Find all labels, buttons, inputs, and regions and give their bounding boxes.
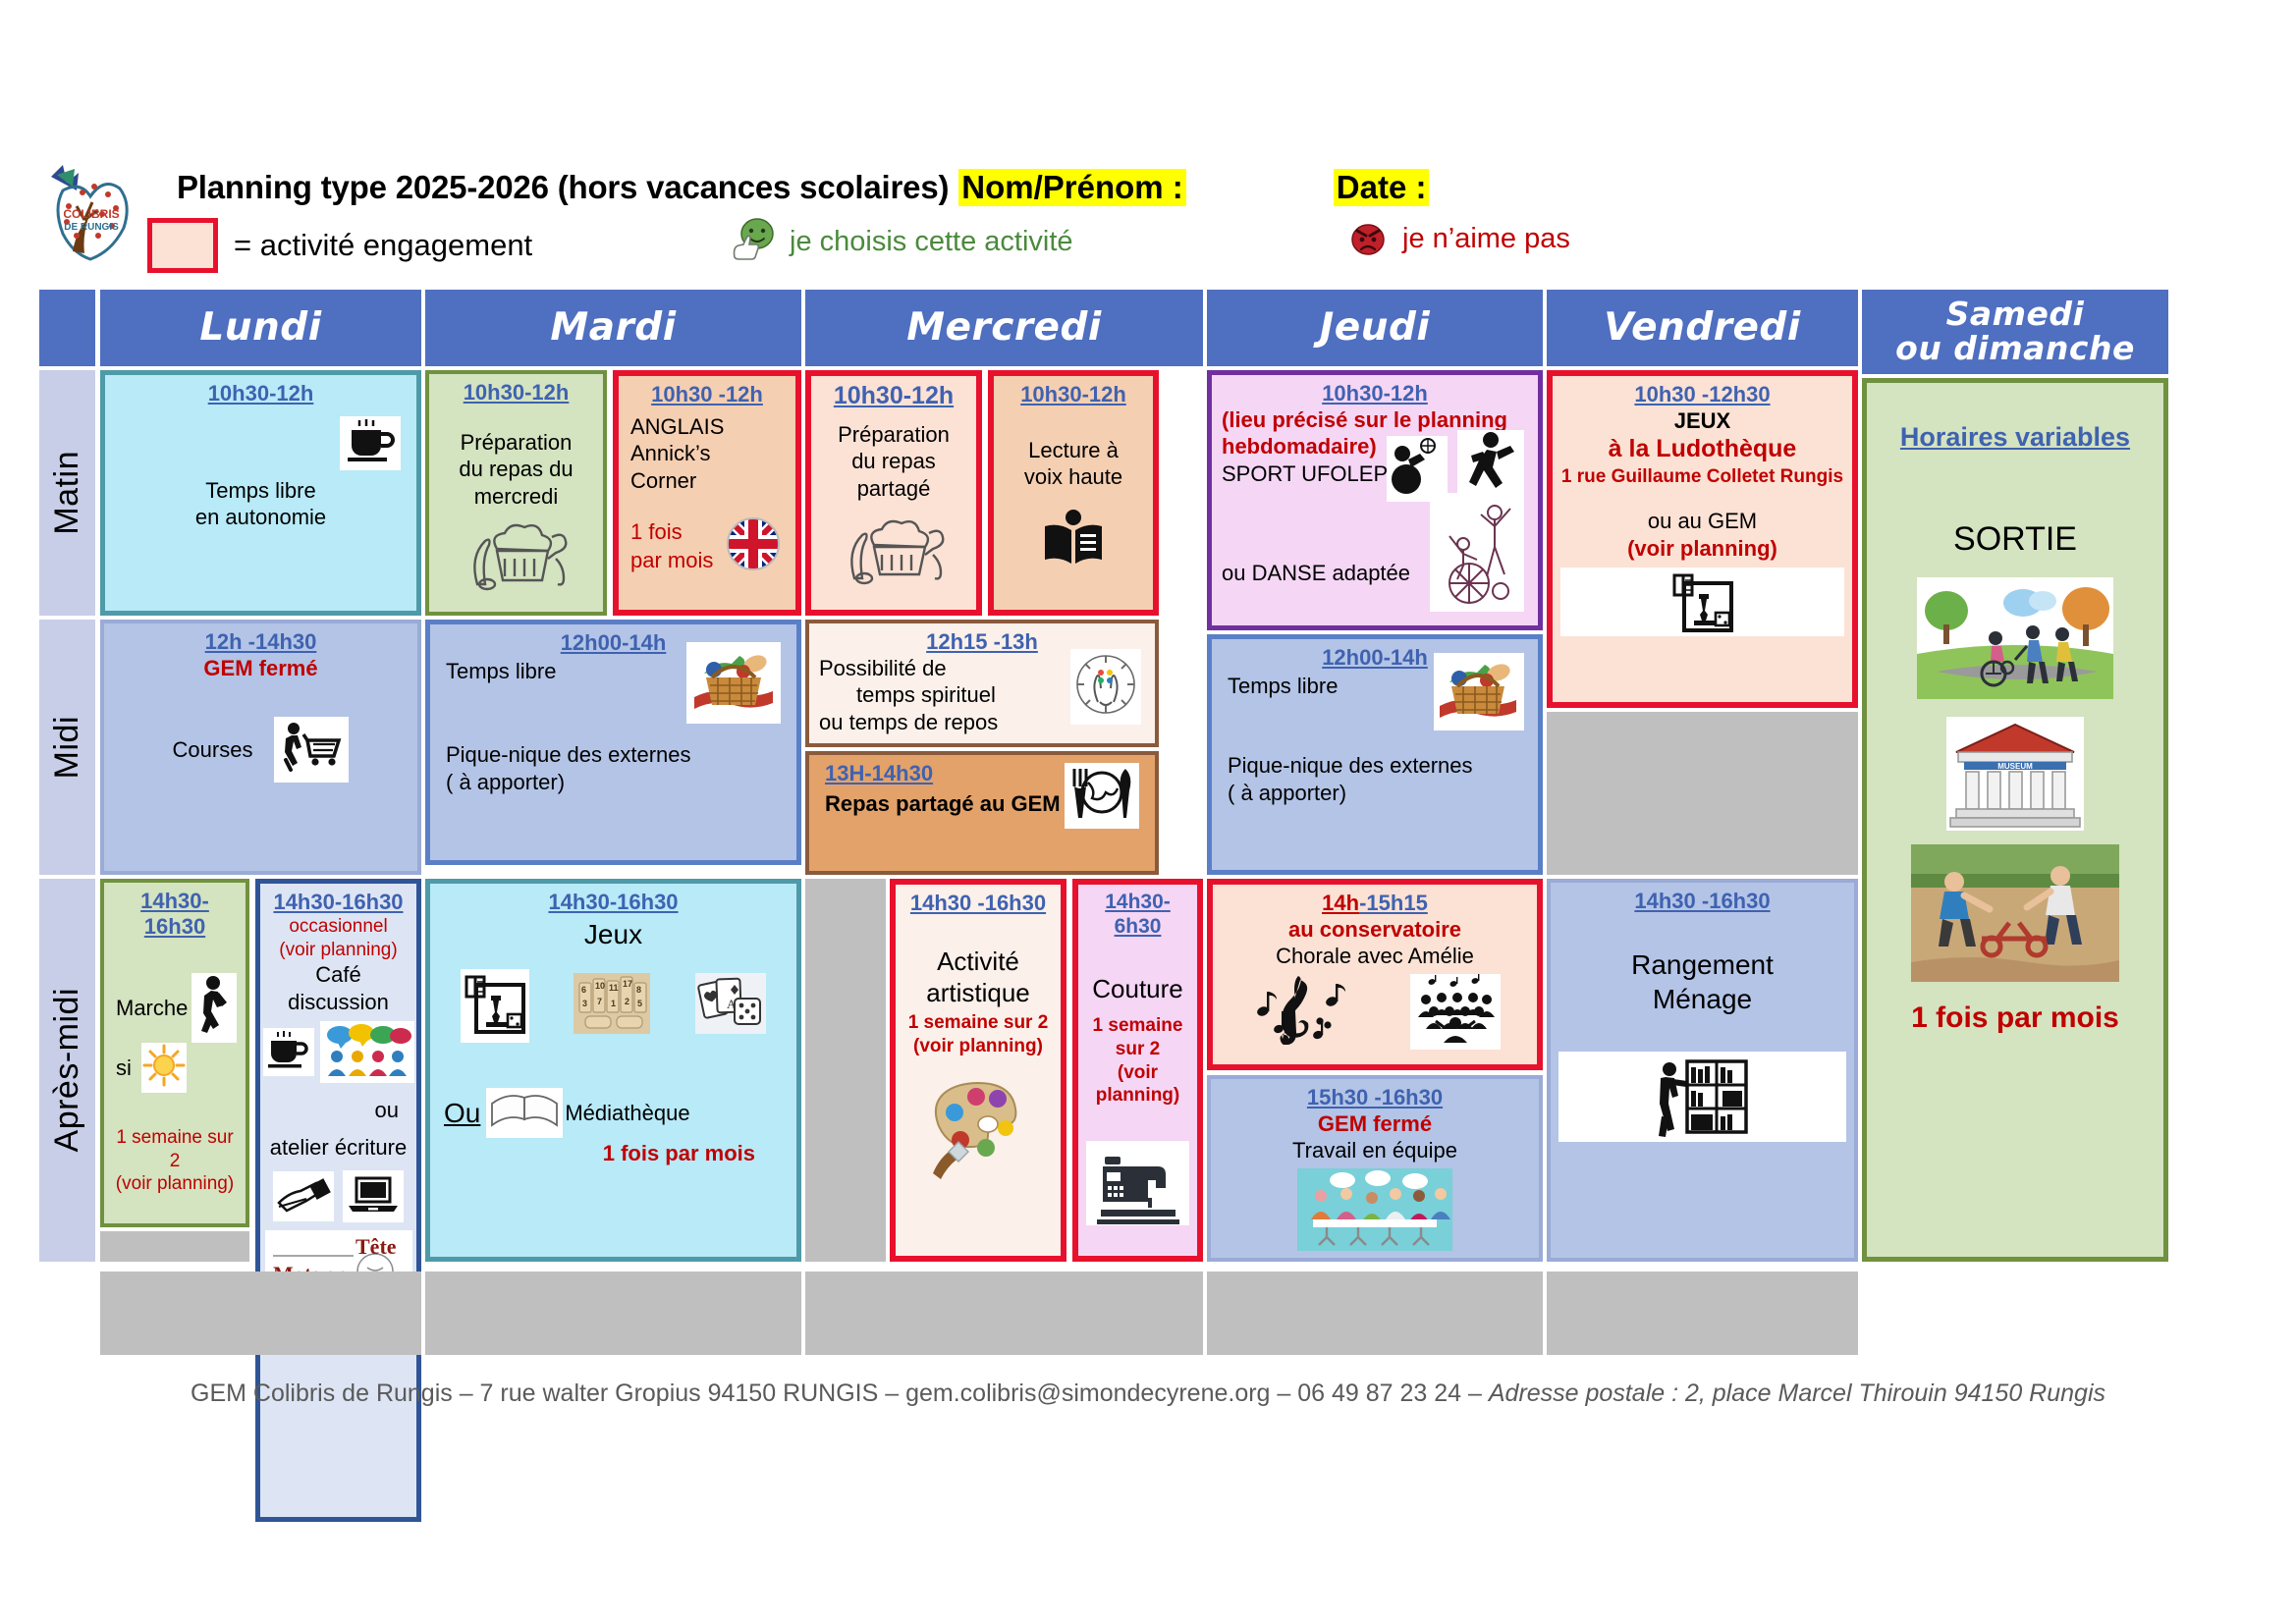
cell-note-1: 1 semaine sur 2 xyxy=(1086,1014,1189,1061)
cell-line-1: Médiathèque xyxy=(565,1100,689,1127)
engagement-color-swatch xyxy=(147,218,218,273)
day-label: Lundi xyxy=(199,308,321,349)
cell-time: 10h30-12h xyxy=(437,380,595,406)
cell-time: 10h30-12h xyxy=(113,381,409,406)
cell-lundi-matin[interactable]: 10h30-12h Temps libre en autonomie xyxy=(100,370,421,616)
title-row: Planning type 2025-2026 (hors vacances s… xyxy=(177,169,1429,206)
svg-text:7: 7 xyxy=(597,997,602,1006)
cell-mercredi-matin-preparation[interactable]: 10h30-12h Préparation du repas partagé xyxy=(805,370,982,616)
running-person-ball-icon xyxy=(1457,430,1524,496)
cell-note-2: (voir planning) xyxy=(903,1035,1053,1058)
day-header-samedi-dimanche: Samedi ou dimanche xyxy=(1862,290,2168,374)
cell-line-1: Préparation xyxy=(437,429,595,457)
cell-time: 14h30-16h30 xyxy=(438,890,789,915)
cell-time: 14h30 -16h30 xyxy=(1558,889,1846,914)
cell-note-1: 1 semaine sur 2 xyxy=(112,1126,238,1173)
cell-note-1: au conservatoire xyxy=(1221,916,1529,944)
grey-filler xyxy=(1547,712,1858,875)
colibris-logo: COLIBRIS DE RUNGIS xyxy=(33,157,149,265)
cell-mardi-midi[interactable]: 12h00-14h Temps libre Pique-nique des xyxy=(425,620,801,865)
grid-corner xyxy=(39,290,95,366)
cell-line-1: Temps libre xyxy=(113,477,409,505)
cell-line-2: si xyxy=(116,1055,132,1082)
cell-jeudi-apres-midi-chorale[interactable]: 14h-15h15 au conservatoire Chorale avec … xyxy=(1207,879,1543,1070)
thumbs-up-smiley-icon xyxy=(727,214,778,270)
row-label-text: Midi xyxy=(48,716,86,779)
cooking-utensils-icon xyxy=(437,515,595,594)
cell-line-1: Travail en équipe xyxy=(1219,1137,1531,1164)
day-header-jeudi: Jeudi xyxy=(1207,290,1543,366)
grey-filler xyxy=(805,1271,1203,1355)
cell-time: 10h30 -12h30 xyxy=(1560,382,1844,407)
cell-line-1: Chorale avec Amélie xyxy=(1221,943,1529,970)
picnic-basket-icon xyxy=(686,642,781,724)
footer-text-contact: GEM Colibris de Rungis – 7 rue walter Gr… xyxy=(191,1380,1489,1407)
cell-title: SORTIE xyxy=(1875,518,2156,561)
cell-time: 12h -14h30 xyxy=(112,629,410,655)
cell-note-1: occasionnel xyxy=(268,915,409,939)
day-label-line1: Samedi xyxy=(1946,298,2085,332)
walking-person-icon xyxy=(191,973,237,1043)
laptop-icon xyxy=(343,1170,404,1222)
cell-line-2: du repas xyxy=(819,448,968,475)
cooking-utensils-icon xyxy=(819,512,968,586)
cell-line-1: Lecture à xyxy=(1002,437,1145,464)
music-notes-clef-icon xyxy=(1249,974,1353,1050)
svg-text:8: 8 xyxy=(636,985,641,995)
cell-mercredi-apres-midi-artistique[interactable]: 14h30 -16h30 Activité artistique 1 semai… xyxy=(890,879,1066,1262)
day-label-line2: ou dimanche xyxy=(1895,332,2135,366)
cell-note-1: (voir planning) xyxy=(1560,535,1844,563)
cell-mardi-apres-midi-jeux[interactable]: 14h30-16h30 Jeux xyxy=(425,879,801,1262)
cell-time: 15h30 -16h30 xyxy=(1219,1085,1531,1110)
cell-line-3: Corner xyxy=(630,467,788,495)
adapted-sport-outdoor-photo xyxy=(1875,844,2156,982)
legend-like: je choisis cette activité xyxy=(727,214,1073,270)
cell-time: 10h30-12h xyxy=(1220,381,1530,406)
cell-line-1: Courses xyxy=(173,736,253,764)
cell-title: Jeux xyxy=(438,917,789,951)
grey-filler xyxy=(100,1231,249,1262)
tidying-shelves-person-icon xyxy=(1558,1052,1846,1142)
cell-line-3: partagé xyxy=(819,475,968,503)
cell-note-1: 1 semaine sur 2 xyxy=(903,1011,1053,1035)
page-title: Planning type 2025-2026 (hors vacances s… xyxy=(177,169,949,206)
cell-jeudi-matin-sport[interactable]: 10h30-12h (lieu précisé sur le planning … xyxy=(1207,370,1543,630)
cell-mercredi-apres-midi-couture[interactable]: 14h30-6h30 Couture 1 semaine sur 2 (voir… xyxy=(1072,879,1203,1262)
legend-like-label: je choisis cette activité xyxy=(790,226,1073,258)
day-header-vendredi: Vendredi xyxy=(1547,290,1858,366)
speech-bubbles-people-icon xyxy=(320,1021,414,1083)
cell-vendredi-matin-jeux[interactable]: 10h30 -12h30 JEUX à la Ludothèque 1 rue … xyxy=(1547,370,1858,708)
board-game-icon xyxy=(461,969,529,1043)
svg-text:Tête: Tête xyxy=(355,1234,397,1259)
open-book-icon xyxy=(486,1088,563,1138)
cell-line-2: voix haute xyxy=(1002,463,1145,491)
cell-note-1: 1 fois xyxy=(630,518,713,547)
day-header-mercredi: Mercredi xyxy=(805,290,1203,366)
cell-line-4: ou au GEM xyxy=(1560,508,1844,535)
grey-filler xyxy=(1207,1271,1543,1355)
cell-line-2: ou xyxy=(268,1097,409,1124)
row-label-matin: Matin xyxy=(39,370,95,616)
cell-line-2: à la Ludothèque xyxy=(1560,434,1844,464)
cell-line-1: Préparation xyxy=(819,421,968,449)
cell-time: 14h30-16h30 xyxy=(268,890,409,915)
cell-mercredi-matin-lecture[interactable]: 10h30-12h Lecture à voix haute xyxy=(988,370,1159,616)
outdoor-walk-scene-icon xyxy=(1875,577,2156,699)
page-footer: GEM Colibris de Rungis – 7 rue walter Gr… xyxy=(0,1380,2296,1408)
cell-time: 14h30-6h30 xyxy=(1086,891,1189,940)
cell-line-2: Pique-nique des externes xyxy=(446,741,789,769)
day-label: Vendredi xyxy=(1604,308,1800,349)
legend-engagement-label: = activité engagement xyxy=(234,228,532,263)
svg-text:MUSEUM: MUSEUM xyxy=(1997,762,2033,771)
day-label: Mercredi xyxy=(906,308,1102,349)
cell-jeudi-midi[interactable]: 12h00-14h Temps libre Pique-nique des ex… xyxy=(1207,634,1543,875)
sun-icon xyxy=(141,1043,187,1093)
cell-mercredi-midi-spirituel[interactable]: 12h15 -13h Possibilité de temps spirit xyxy=(805,620,1159,747)
board-game-icon xyxy=(1560,568,1844,636)
cell-line-2: Annick’s xyxy=(630,440,788,467)
cell-line-3: ( à apporter) xyxy=(1228,780,1530,807)
cell-line-1: JEUX xyxy=(1560,407,1844,435)
cell-note-2: par mois xyxy=(630,547,713,575)
coffee-cup-icon xyxy=(340,416,401,470)
writing-hand-icon xyxy=(273,1171,334,1221)
cell-time: 10h30 -12h xyxy=(627,382,788,407)
cell-note-2: (voir planning) xyxy=(1086,1061,1189,1109)
cell-mardi-matin-preparation[interactable]: 10h30-12h Préparation du repas du mercre… xyxy=(425,370,607,616)
cell-line-3: atelier écriture xyxy=(268,1134,409,1162)
grey-filler xyxy=(805,879,886,1262)
cell-note-1: 1 fois par mois xyxy=(1875,1000,2156,1037)
legend-engagement: = activité engagement xyxy=(147,218,532,273)
planning-grid: Lundi Mardi Mercredi Jeudi Vendredi Same… xyxy=(39,290,2231,1355)
cell-time-part-a: 14h xyxy=(1322,891,1359,915)
cell-mercredi-midi-repas[interactable]: 13H-14h30 Repas partagé au GEM xyxy=(805,751,1159,875)
cell-line-2: artistique xyxy=(903,977,1053,1009)
cell-lundi-apres-midi-cafe[interactable]: 14h30-16h30 occasionnel (voir planning) … xyxy=(255,879,421,1522)
cell-time: 10h30-12h xyxy=(819,382,968,411)
adapted-dance-icon xyxy=(1430,493,1524,612)
cell-line-1: Couture xyxy=(1086,973,1189,1005)
row-label-midi: Midi xyxy=(39,620,95,875)
cell-line-1: Marche xyxy=(116,995,188,1022)
cell-line-3: ( à apporter) xyxy=(446,769,789,796)
uk-flag-icon xyxy=(727,517,780,575)
cell-lundi-apres-midi-marche[interactable]: 14h30- 16h30 Marche si xyxy=(100,879,249,1227)
day-header-lundi: Lundi xyxy=(100,290,421,366)
cell-line-1: Café discussion xyxy=(268,961,409,1015)
svg-text:2: 2 xyxy=(625,997,629,1006)
shopping-cart-person-icon xyxy=(274,717,349,783)
day-label: Mardi xyxy=(550,308,676,349)
angry-face-icon xyxy=(1345,214,1391,264)
cell-line-2: Ménage xyxy=(1558,982,1846,1016)
cell-lundi-midi[interactable]: 12h -14h30 GEM fermé Courses xyxy=(100,620,421,875)
paint-palette-icon xyxy=(903,1067,1053,1181)
cell-jeudi-apres-midi-travail[interactable]: 15h30 -16h30 GEM fermé Travail en équipe xyxy=(1207,1075,1543,1262)
svg-text:17: 17 xyxy=(623,979,632,989)
logo-text-de-rungis: DE RUNGIS xyxy=(64,222,119,233)
svg-text:11: 11 xyxy=(609,983,619,993)
cell-time-2: 16h30 xyxy=(112,914,238,940)
day-label: Jeudi xyxy=(1320,308,1431,349)
cell-note-2: (voir planning) xyxy=(268,939,409,962)
team-meeting-icon xyxy=(1219,1168,1531,1251)
cell-time: 14h30 -16h30 xyxy=(903,891,1053,916)
choir-group-icon xyxy=(1410,974,1501,1050)
cell-time: Horaires variables xyxy=(1875,422,2156,454)
coffee-cup-icon xyxy=(263,1028,314,1076)
cell-line-2: du repas du xyxy=(437,456,595,483)
cell-line-2: en autonomie xyxy=(113,504,409,531)
row-label-text: Après-midi xyxy=(48,988,86,1152)
sewing-machine-icon xyxy=(1086,1141,1189,1225)
row-label-text: Matin xyxy=(48,451,86,535)
day-header-mardi: Mardi xyxy=(425,290,801,366)
legend-dislike-label: je n’aime pas xyxy=(1402,223,1570,255)
wheelchair-basketball-icon xyxy=(1387,436,1448,502)
cell-time: 14h30- xyxy=(112,889,238,914)
cell-gem-closed: GEM fermé xyxy=(1219,1110,1531,1138)
cell-line-3: mercredi xyxy=(437,483,595,511)
svg-text:10: 10 xyxy=(595,981,605,991)
cell-time-part-b: -15h15 xyxy=(1359,891,1428,915)
row-label-apres-midi: Après-midi xyxy=(39,879,95,1262)
cell-mardi-matin-anglais[interactable]: 10h30 -12h ANGLAIS Annick’s Corner 1 foi… xyxy=(613,370,801,616)
page-header: COLIBRIS DE RUNGIS Planning type 2025-20… xyxy=(0,0,2296,287)
grey-filler xyxy=(425,1271,801,1355)
cell-time: 14h-15h15 xyxy=(1221,891,1529,916)
svg-text:5: 5 xyxy=(637,999,642,1008)
logo-text-colibris: COLIBRIS xyxy=(63,207,119,221)
svg-text:3: 3 xyxy=(582,999,587,1008)
cell-vendredi-apres-midi-rangement[interactable]: 14h30 -16h30 Rangement Ménage xyxy=(1547,879,1858,1262)
legend-dislike: je n’aime pas xyxy=(1345,214,1570,264)
cell-ou-label: Ou xyxy=(444,1096,480,1130)
cell-time: 10h30-12h xyxy=(1002,382,1145,407)
footer-text-address: Adresse postale : 2, place Marcel Thirou… xyxy=(1489,1380,2105,1407)
grey-filler xyxy=(1547,1271,1858,1355)
playing-cards-dice-icon: A xyxy=(695,973,766,1039)
museum-building-icon: MUSEUM xyxy=(1875,717,2156,831)
svg-text:6: 6 xyxy=(581,985,586,995)
cell-line-1: Rangement xyxy=(1558,947,1846,982)
reading-book-icon xyxy=(1002,509,1145,566)
date-field-label: Date : xyxy=(1334,169,1430,206)
cell-line-1: Activité xyxy=(903,946,1053,978)
name-field-label: Nom/Prénom : xyxy=(958,169,1186,206)
kubb-wooden-pins-icon: 61011 178 371 25 xyxy=(574,973,650,1039)
picnic-basket-icon xyxy=(1434,653,1524,730)
cell-gem-closed: GEM fermé xyxy=(112,655,410,682)
cell-note-1: 1 fois par mois xyxy=(438,1140,789,1167)
cell-line-2: Pique-nique des externes xyxy=(1228,752,1530,780)
grey-filler xyxy=(100,1271,421,1355)
cell-note-2: (voir planning) xyxy=(112,1172,238,1196)
spiritual-hands-icon xyxy=(1070,649,1141,725)
meal-plate-cutlery-icon xyxy=(1065,763,1139,829)
cell-line-3: 1 rue Guillaume Colletet Rungis xyxy=(1560,465,1844,489)
svg-text:1: 1 xyxy=(611,999,616,1008)
cell-line-1: ANGLAIS xyxy=(630,413,788,441)
cell-samedi-sortie[interactable]: Horaires variables SORTIE xyxy=(1862,378,2168,1262)
